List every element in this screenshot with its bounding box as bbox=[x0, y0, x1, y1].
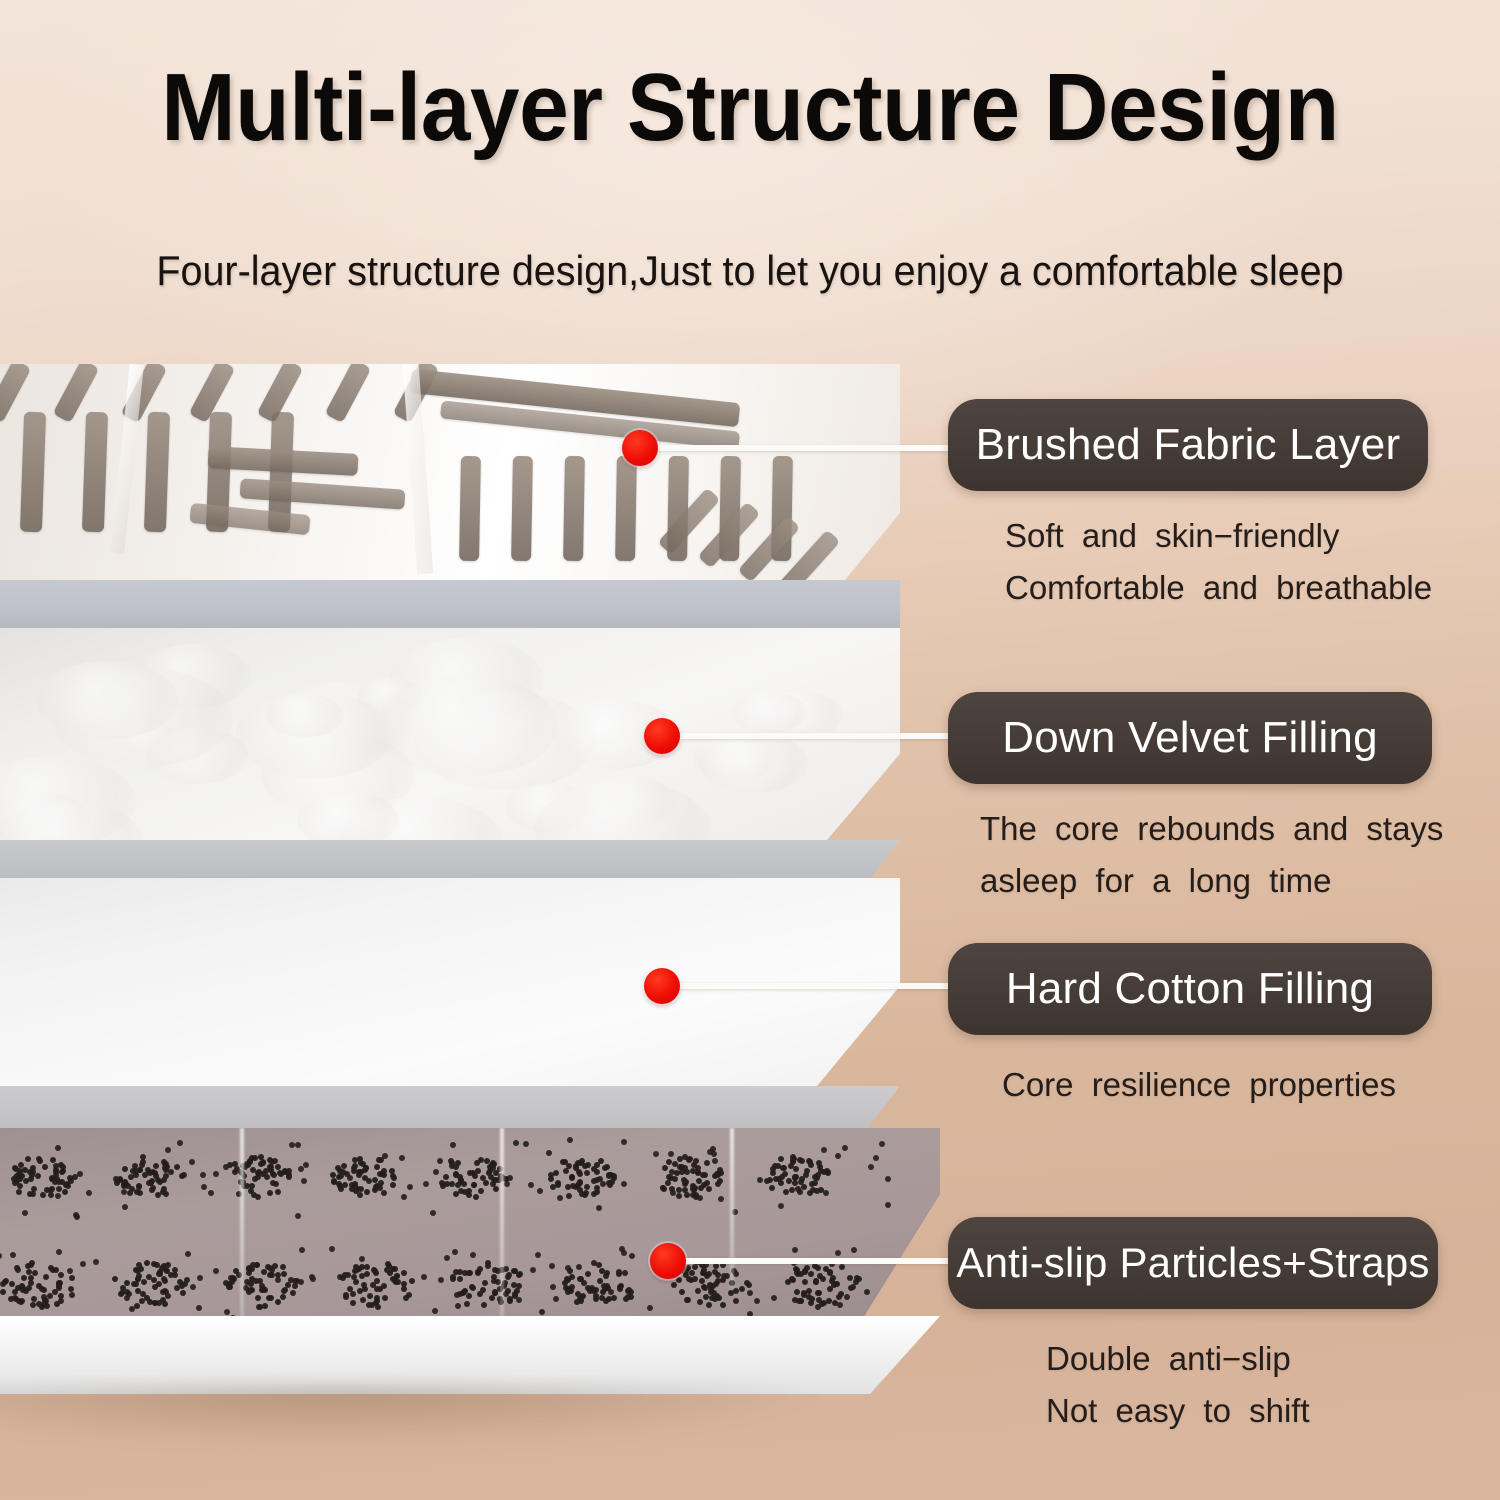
stack-drop-shadow bbox=[0, 1386, 820, 1446]
layer-slab-brushed-fabric bbox=[0, 364, 900, 630]
description-line: The core rebounds and stays bbox=[980, 803, 1443, 855]
description-hard-cotton: Core resilience properties bbox=[1002, 1059, 1396, 1111]
description-line: Double anti−slip bbox=[1046, 1333, 1310, 1385]
description-anti-slip: Double anti−slip Not easy to shift bbox=[1046, 1333, 1310, 1437]
brushed-fabric-edge bbox=[0, 580, 900, 630]
description-line: Comfortable and breathable bbox=[1005, 562, 1432, 614]
anti-slip-surface bbox=[0, 1128, 940, 1323]
badge-anti-slip-particles-straps[interactable]: Anti-slip Particles+Straps bbox=[948, 1217, 1438, 1309]
badge-brushed-fabric-layer[interactable]: Brushed Fabric Layer bbox=[948, 399, 1428, 491]
description-line: Not easy to shift bbox=[1046, 1385, 1310, 1437]
layer-slab-down-velvet bbox=[0, 628, 900, 890]
connector-line-anti-slip bbox=[678, 1258, 950, 1264]
description-down-velvet: The core rebounds and stays asleep for a… bbox=[980, 803, 1443, 907]
badge-down-velvet-filling[interactable]: Down Velvet Filling bbox=[948, 692, 1432, 784]
layer-slab-hard-cotton bbox=[0, 878, 900, 1148]
layer-stack-illustration bbox=[0, 0, 1000, 1500]
description-line: asleep for a long time bbox=[980, 855, 1443, 907]
red-dot-marker-anti-slip bbox=[650, 1243, 686, 1279]
red-dot-marker-down-velvet bbox=[644, 718, 680, 754]
badge-hard-cotton-filling[interactable]: Hard Cotton Filling bbox=[948, 943, 1432, 1035]
connector-line-down-velvet bbox=[672, 733, 952, 739]
anti-slip-edge bbox=[0, 1316, 940, 1394]
anti-slip-particle-pattern bbox=[0, 1128, 940, 1323]
description-brushed-fabric: Soft and skin−friendly Comfortable and b… bbox=[1005, 510, 1432, 614]
red-dot-marker-brushed-fabric bbox=[622, 430, 658, 466]
layer-slab-anti-slip bbox=[0, 1128, 940, 1428]
connector-line-brushed-fabric bbox=[652, 445, 952, 451]
connector-line-hard-cotton bbox=[672, 983, 952, 989]
infographic-canvas: Multi-layer Structure Design Four-layer … bbox=[0, 0, 1500, 1500]
description-line: Soft and skin−friendly bbox=[1005, 510, 1432, 562]
description-line: Core resilience properties bbox=[1002, 1059, 1396, 1111]
red-dot-marker-hard-cotton bbox=[644, 968, 680, 1004]
